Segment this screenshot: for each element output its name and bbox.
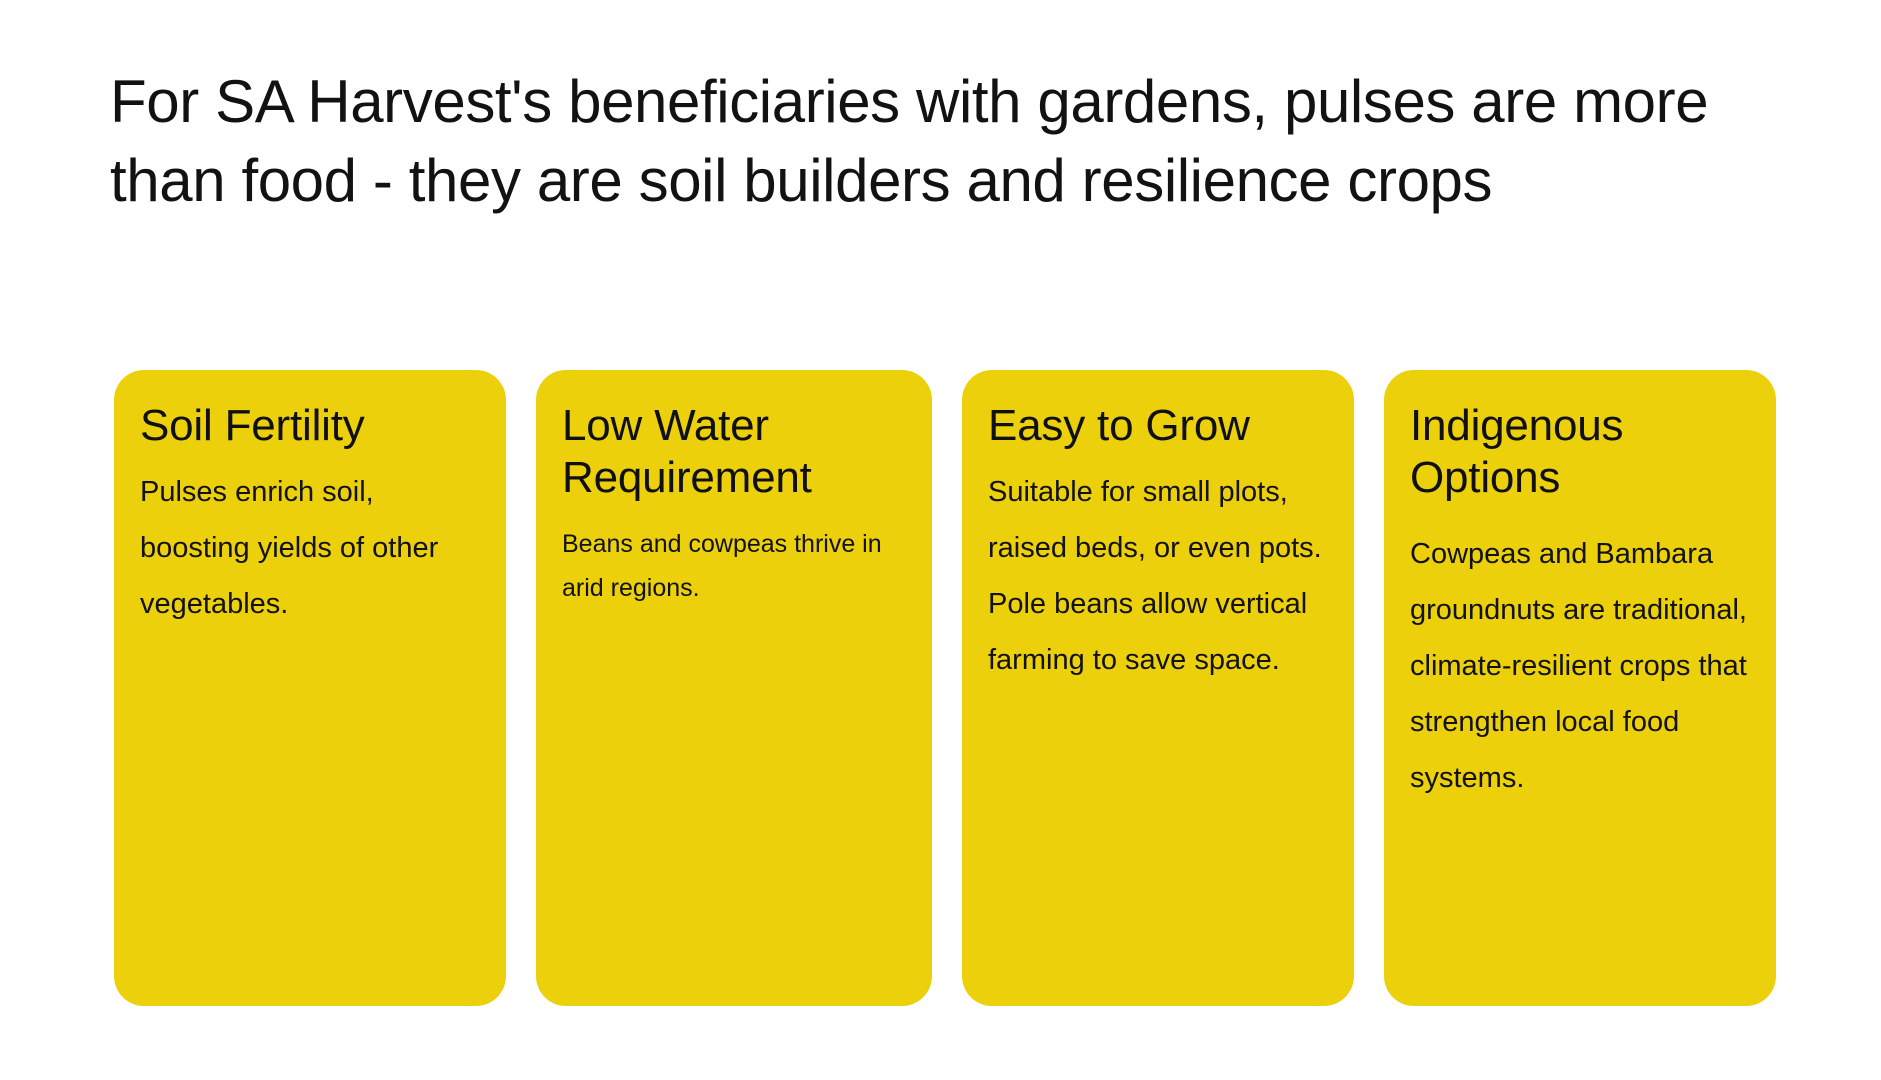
card-body: Suitable for small plots, raised beds, o… [988, 464, 1328, 688]
page-title: For SA Harvest's beneficiaries with gard… [110, 62, 1790, 220]
feature-card-indigenous-options[interactable]: Indigenous Options Cowpeas and Bambara g… [1384, 370, 1776, 1006]
feature-card-row: Soil Fertility Pulses enrich soil, boost… [114, 370, 1780, 1006]
slide-canvas: For SA Harvest's beneficiaries with gard… [0, 0, 1881, 1080]
card-title: Soil Fertility [140, 400, 365, 452]
feature-card-low-water-requirement[interactable]: Low Water Requirement Beans and cowpeas … [536, 370, 932, 1006]
card-title: Indigenous Options [1410, 400, 1750, 504]
feature-card-easy-to-grow[interactable]: Easy to Grow Suitable for small plots, r… [962, 370, 1354, 1006]
card-body: Beans and cowpeas thrive in arid regions… [562, 522, 906, 610]
card-title: Low Water Requirement [562, 400, 906, 504]
card-title: Easy to Grow [988, 400, 1250, 452]
card-body: Cowpeas and Bambara groundnuts are tradi… [1410, 526, 1750, 806]
card-body: Pulses enrich soil, boosting yields of o… [140, 464, 480, 632]
feature-card-soil-fertility[interactable]: Soil Fertility Pulses enrich soil, boost… [114, 370, 506, 1006]
